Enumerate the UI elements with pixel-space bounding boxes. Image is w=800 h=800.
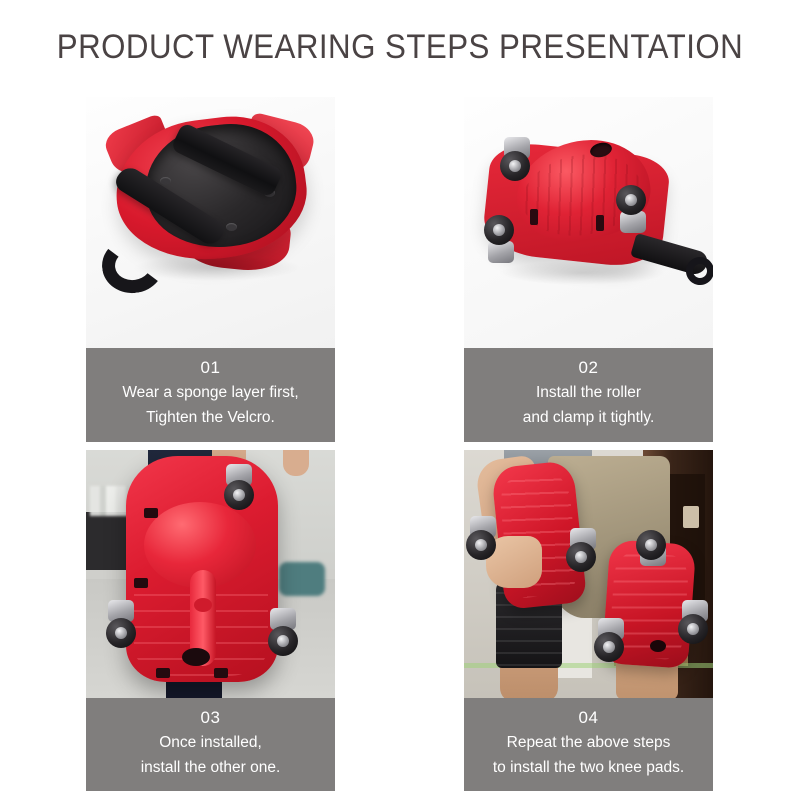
caster-hub [625, 194, 637, 206]
caster-hub [575, 551, 587, 563]
step-photo-01 [86, 97, 335, 348]
product-shadow [498, 261, 666, 285]
step-text-line1: Install the roller [464, 380, 713, 405]
step-caption-02: 02 Install the roller and clamp it tight… [464, 348, 713, 442]
steps-grid: 01 Wear a sponge layer first, Tighten th… [86, 97, 714, 791]
step-text-line2: to install the two knee pads. [464, 755, 713, 780]
strap-slot [156, 668, 170, 678]
step-number: 01 [86, 355, 335, 380]
rivet-icon [226, 223, 237, 231]
person-hand-second [283, 450, 309, 476]
step-photo-02 [464, 97, 713, 348]
step-text-line2: and clamp it tightly. [464, 405, 713, 430]
strap-slot [596, 215, 604, 231]
strap-slot [530, 209, 538, 225]
step-number: 03 [86, 705, 335, 730]
step-text-line1: Repeat the above steps [464, 730, 713, 755]
caster-hub [603, 641, 615, 653]
step-text-line1: Once installed, [86, 730, 335, 755]
background-light-switch [683, 506, 699, 528]
caster-hub [277, 635, 289, 647]
step-number: 04 [464, 705, 713, 730]
caster-hub [115, 627, 127, 639]
step-caption-01: 01 Wear a sponge layer first, Tighten th… [86, 348, 335, 442]
strap-slot [134, 578, 148, 588]
step-card-02: 02 Install the roller and clamp it tight… [464, 97, 713, 442]
rivet-icon [160, 177, 171, 185]
knee-pad-vent-hole [182, 648, 210, 666]
step-text-line1: Wear a sponge layer first, [86, 380, 335, 405]
strap-slot [214, 668, 228, 678]
caster-hub [493, 224, 505, 236]
step-photo-03 [86, 450, 335, 698]
caster-hub [233, 489, 245, 501]
caster-hub [475, 539, 487, 551]
step-photo-04 [464, 450, 713, 698]
caster-hub [509, 160, 521, 172]
caster-hub [645, 539, 657, 551]
knee-pad-knob [194, 598, 212, 612]
step-caption-03: 03 Once installed, install the other one… [86, 698, 335, 791]
step-text-line2: install the other one. [86, 755, 335, 780]
step-number: 02 [464, 355, 713, 380]
step-card-04: 04 Repeat the above steps to install the… [464, 450, 713, 791]
step-caption-04: 04 Repeat the above steps to install the… [464, 698, 713, 791]
strap-slot [144, 508, 158, 518]
background-teal-object [279, 562, 325, 596]
caster-hub [687, 623, 699, 635]
page-title: PRODUCT WEARING STEPS PRESENTATION [32, 28, 768, 67]
step-text-line2: Tighten the Velcro. [86, 405, 335, 430]
step-card-01: 01 Wear a sponge layer first, Tighten th… [86, 97, 335, 442]
step-card-03: 03 Once installed, install the other one… [86, 450, 335, 791]
knee-pad-vent-hole [650, 640, 666, 652]
product-shadow [132, 255, 302, 281]
